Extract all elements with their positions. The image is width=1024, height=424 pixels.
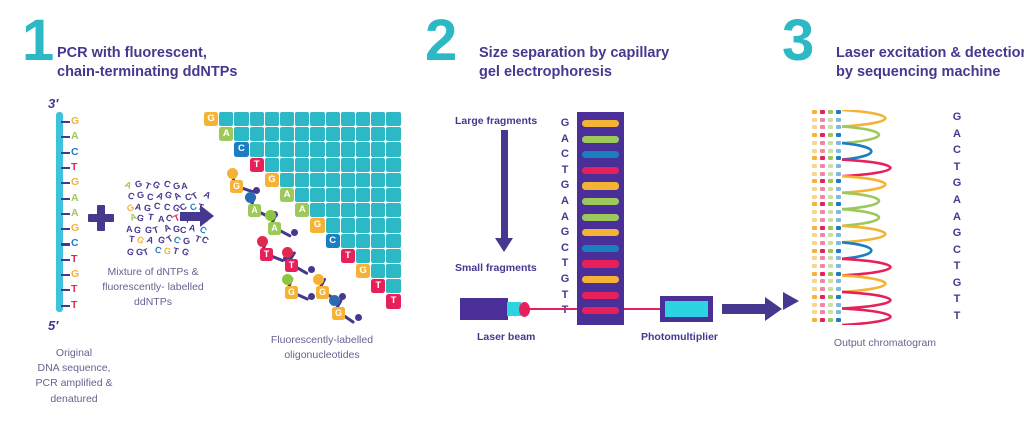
chromatogram-track xyxy=(820,110,825,325)
chromatogram-peak xyxy=(842,143,871,160)
chromatogram-base-letter: G xyxy=(950,177,964,189)
track-dot xyxy=(836,272,841,276)
track-dot xyxy=(820,318,825,322)
track-dot xyxy=(836,125,841,129)
track-dot xyxy=(828,125,833,129)
track-dot xyxy=(828,279,833,283)
panel-step-3: 3 Laser excitation & detection by sequen… xyxy=(0,0,1024,424)
chromatogram-peak xyxy=(842,127,879,144)
track-dot xyxy=(836,249,841,253)
track-dot xyxy=(828,264,833,268)
track-dot xyxy=(820,118,825,122)
track-dot xyxy=(820,164,825,168)
chromatogram-peak xyxy=(842,226,885,243)
track-dot xyxy=(820,149,825,153)
track-dot xyxy=(828,287,833,291)
track-dot xyxy=(836,164,841,168)
track-dot xyxy=(828,295,833,299)
track-dot xyxy=(812,256,817,260)
chromatogram-base-letter: T xyxy=(950,293,964,305)
track-dot xyxy=(820,187,825,191)
chromatogram-track xyxy=(812,110,817,325)
track-dot xyxy=(812,110,817,114)
step-3-number: 3 xyxy=(782,12,812,70)
track-dot xyxy=(812,264,817,268)
chromatogram-peak xyxy=(842,309,890,326)
track-dot xyxy=(836,141,841,145)
track-dot xyxy=(828,233,833,237)
track-dot xyxy=(828,303,833,307)
chromatogram-base-letter: G xyxy=(950,227,964,239)
track-dot xyxy=(812,226,817,230)
track-dot xyxy=(820,233,825,237)
track-dot xyxy=(820,218,825,222)
track-dot xyxy=(812,287,817,291)
chromatogram-base-letter: C xyxy=(950,144,964,156)
track-dot xyxy=(812,241,817,245)
track-dot xyxy=(812,141,817,145)
chromatogram-peak xyxy=(842,275,885,292)
track-dot xyxy=(812,133,817,137)
track-dot xyxy=(836,256,841,260)
track-dot xyxy=(820,295,825,299)
track-dot xyxy=(828,110,833,114)
track-dot xyxy=(820,202,825,206)
track-dot xyxy=(828,272,833,276)
chromatogram-base-letter: A xyxy=(950,211,964,223)
chromatogram-plot xyxy=(812,110,942,325)
track-dot xyxy=(828,241,833,245)
track-dot xyxy=(812,195,817,199)
track-dot xyxy=(812,272,817,276)
track-dot xyxy=(836,202,841,206)
track-dot xyxy=(820,264,825,268)
track-dot xyxy=(820,303,825,307)
track-dot xyxy=(836,279,841,283)
track-dot xyxy=(836,295,841,299)
chromatogram-peak xyxy=(842,176,885,193)
track-dot xyxy=(812,318,817,322)
track-dot xyxy=(828,187,833,191)
chromatogram-base-letter: A xyxy=(950,194,964,206)
chromatogram-track xyxy=(836,110,841,325)
track-dot xyxy=(820,287,825,291)
track-dot xyxy=(828,218,833,222)
track-dot xyxy=(812,218,817,222)
track-dot xyxy=(812,187,817,191)
chromatogram-peak xyxy=(842,193,879,210)
track-dot xyxy=(812,149,817,153)
track-dot xyxy=(820,133,825,137)
chromatogram-base-letter: A xyxy=(950,128,964,140)
chromatogram-caption: Output chromatogram xyxy=(790,336,980,351)
track-dot xyxy=(836,195,841,199)
track-dot xyxy=(828,195,833,199)
chromatogram-base-letter: G xyxy=(950,277,964,289)
chromatogram-base-letter: T xyxy=(950,260,964,272)
track-dot xyxy=(828,172,833,176)
track-dot xyxy=(820,279,825,283)
track-dot xyxy=(828,256,833,260)
track-dot xyxy=(812,118,817,122)
track-dot xyxy=(820,141,825,145)
track-dot xyxy=(812,172,817,176)
track-dot xyxy=(836,187,841,191)
track-dot xyxy=(836,310,841,314)
track-dot xyxy=(820,241,825,245)
track-dot xyxy=(836,210,841,214)
chromatogram-base-letter: G xyxy=(950,111,964,123)
track-dot xyxy=(836,149,841,153)
track-dot xyxy=(836,133,841,137)
track-dot xyxy=(820,179,825,183)
track-dot xyxy=(828,133,833,137)
track-dot xyxy=(812,156,817,160)
track-dot xyxy=(836,226,841,230)
track-dot xyxy=(812,295,817,299)
track-dot xyxy=(820,210,825,214)
track-dot xyxy=(828,179,833,183)
track-dot xyxy=(828,318,833,322)
track-dot xyxy=(812,310,817,314)
step-3-title-line2: by sequencing machine xyxy=(836,63,1024,82)
track-dot xyxy=(828,249,833,253)
chromatogram-peak xyxy=(842,110,885,127)
track-dot xyxy=(836,287,841,291)
track-dot xyxy=(812,179,817,183)
track-dot xyxy=(828,118,833,122)
track-dot xyxy=(820,272,825,276)
track-dot xyxy=(820,125,825,129)
track-dot xyxy=(836,179,841,183)
track-dot xyxy=(820,256,825,260)
chromatogram-peak xyxy=(842,242,871,258)
chromatogram-base-letter: C xyxy=(950,244,964,256)
track-dot xyxy=(836,233,841,237)
track-dot xyxy=(836,318,841,322)
track-dot xyxy=(812,210,817,214)
track-dot xyxy=(836,303,841,307)
track-dot xyxy=(828,202,833,206)
track-dot xyxy=(812,233,817,237)
track-dot xyxy=(812,249,817,253)
track-dot xyxy=(836,118,841,122)
track-dot xyxy=(828,210,833,214)
chromatogram-input-arrow-icon xyxy=(783,292,805,310)
chromatogram-peak xyxy=(842,209,879,226)
track-dot xyxy=(812,202,817,206)
track-dot xyxy=(820,110,825,114)
track-dot xyxy=(812,303,817,307)
step-3-title: Laser excitation & detection by sequenci… xyxy=(836,44,1024,82)
track-dot xyxy=(828,149,833,153)
track-dot xyxy=(836,110,841,114)
track-dot xyxy=(836,172,841,176)
chromatogram-track xyxy=(828,110,833,325)
chromatogram-peak xyxy=(842,292,890,309)
track-dot xyxy=(820,226,825,230)
track-dot xyxy=(828,156,833,160)
track-dot xyxy=(812,279,817,283)
track-dot xyxy=(820,310,825,314)
track-dot xyxy=(812,125,817,129)
step-3-title-line1: Laser excitation & detection xyxy=(836,44,1024,63)
chromatogram-peak xyxy=(842,259,890,276)
track-dot xyxy=(836,218,841,222)
track-dot xyxy=(828,164,833,168)
track-dot xyxy=(820,156,825,160)
chromatogram-base-letter: T xyxy=(950,161,964,173)
track-dot xyxy=(828,226,833,230)
track-dot xyxy=(820,172,825,176)
track-dot xyxy=(812,164,817,168)
track-dot xyxy=(820,249,825,253)
chromatogram-base-letter: T xyxy=(950,310,964,322)
track-dot xyxy=(828,141,833,145)
chromatogram-peaks xyxy=(842,110,942,325)
track-dot xyxy=(836,241,841,245)
chromatogram-peak xyxy=(842,160,890,177)
track-dot xyxy=(828,310,833,314)
track-dot xyxy=(836,264,841,268)
track-dot xyxy=(820,195,825,199)
track-dot xyxy=(836,156,841,160)
